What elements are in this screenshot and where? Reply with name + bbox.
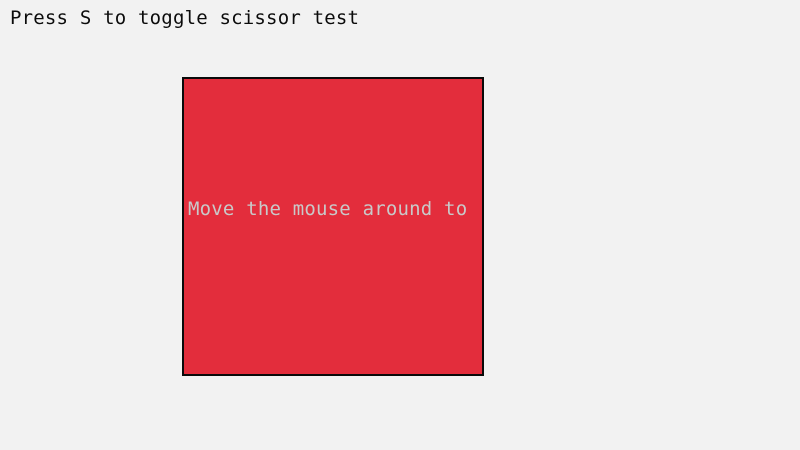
app-canvas: Press S to toggle scissor test Move the … xyxy=(0,0,800,450)
scissor-region[interactable]: Move the mouse around to render this tex… xyxy=(182,77,484,376)
scissor-toggle-hint: Press S to toggle scissor test xyxy=(10,6,359,30)
scissor-fill-rect xyxy=(184,79,482,374)
